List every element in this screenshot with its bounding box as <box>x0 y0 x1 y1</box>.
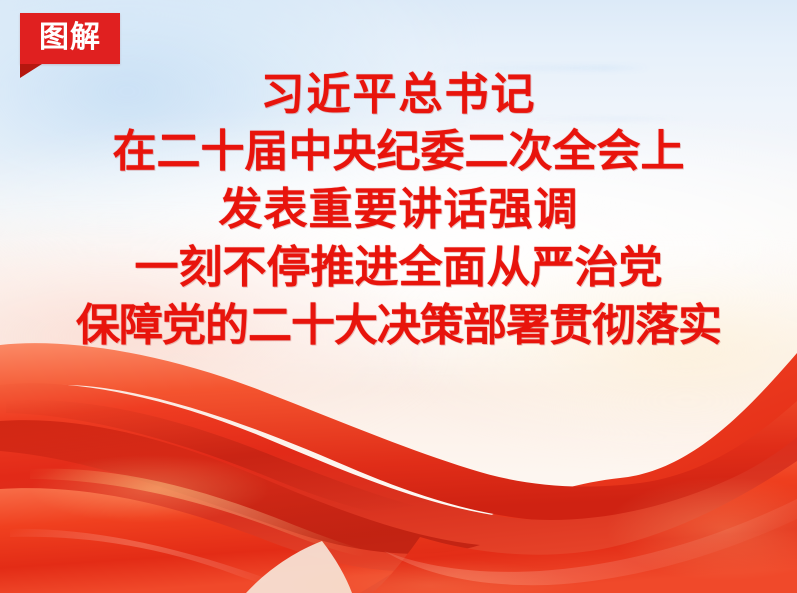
badge-body[interactable]: 图解 <box>20 13 120 64</box>
headline-line-3: 发表重要讲话强调 <box>0 181 797 239</box>
infographic-poster: 图解 习近平总书记 在二十届中央纪委二次全会上 发表重要讲话强调 一刻不停推进全… <box>0 0 797 593</box>
headline-line-1: 习近平总书记 <box>0 66 797 123</box>
page-title: 习近平总书记 在二十届中央纪委二次全会上 发表重要讲话强调 一刻不停推进全面从严… <box>0 66 797 355</box>
tuje-badge[interactable]: 图解 <box>20 13 120 64</box>
headline-line-2: 在二十届中央纪委二次全会上 <box>0 123 797 181</box>
callout-tag-icon <box>20 64 42 78</box>
headline-line-4: 一刻不停推进全面从严治党 <box>0 239 797 297</box>
badge-label: 图解 <box>39 23 101 55</box>
headline-line-5: 保障党的二十大决策部署贯彻落实 <box>0 297 797 355</box>
ribbon-warm-glow-left <box>30 455 270 523</box>
